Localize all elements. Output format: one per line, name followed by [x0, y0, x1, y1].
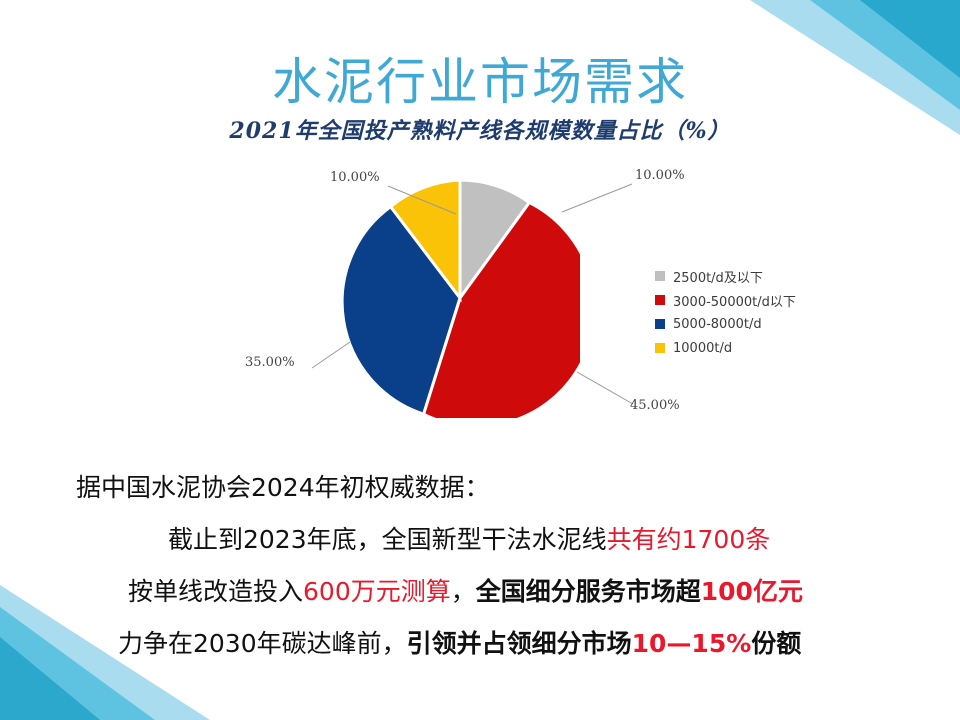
legend-item: 5000-8000t/d	[655, 313, 855, 335]
legend-swatch-gray-icon	[655, 271, 665, 281]
body-line-1-text: 据中国水泥协会2024年初权威数据：	[76, 473, 490, 502]
pie-label-bottom-left: 35.00%	[245, 355, 295, 370]
body-line-4-text: 力争在2030年碳达峰前，	[118, 629, 407, 658]
page-title: 水泥行业市场需求	[0, 52, 960, 112]
title-block: 水泥行业市场需求 2021年全国投产熟料产线各规模数量占比（%）	[0, 52, 960, 146]
body-line-2-highlight: 共有约1700条	[607, 525, 771, 554]
pie-chart: 10.00% 10.00% 35.00% 45.00% 2500t/d及以下 3…	[240, 150, 860, 440]
leader-line-top-left	[388, 184, 458, 216]
body-line-4: 力争在2030年碳达峰前，引领并占领细分市场10—15%份额	[0, 618, 960, 670]
pie-label-top-right: 10.00%	[635, 168, 685, 183]
body-line-2: 截止到2023年底，全国新型干法水泥线共有约1700条	[0, 514, 960, 566]
body-line-3-highlight: 600万元测算	[303, 577, 451, 606]
body-line-3-bold-highlight: 100亿元	[701, 577, 803, 606]
body-line-1: 据中国水泥协会2024年初权威数据：	[0, 462, 960, 514]
body-line-4-bold-highlight: 10—15%	[632, 629, 752, 658]
legend-item: 3000-50000t/d以下	[655, 289, 855, 311]
body-text-block: 据中国水泥协会2024年初权威数据： 截止到2023年底，全国新型干法水泥线共有…	[0, 462, 960, 670]
leader-line-bottom-right	[577, 372, 635, 406]
chart-legend: 2500t/d及以下 3000-50000t/d以下 5000-8000t/d …	[655, 265, 855, 361]
pie-graphic	[340, 178, 580, 418]
pie-label-top-left: 10.00%	[330, 170, 380, 185]
legend-swatch-blue-icon	[655, 319, 665, 329]
legend-item: 2500t/d及以下	[655, 265, 855, 287]
slide-canvas: 水泥行业市场需求 2021年全国投产熟料产线各规模数量占比（%）	[0, 0, 960, 720]
legend-swatch-yellow-icon	[655, 343, 665, 353]
pie-label-bottom-right: 45.00%	[630, 398, 680, 413]
body-line-4-bold: 引领并占领细分市场	[407, 629, 632, 658]
legend-label: 5000-8000t/d	[673, 317, 762, 332]
body-line-3-text: 按单线改造投入	[128, 577, 303, 606]
body-line-3: 按单线改造投入600万元测算，全国细分服务市场超100亿元	[0, 566, 960, 618]
chart-subtitle: 2021年全国投产熟料产线各规模数量占比（%）	[0, 116, 960, 146]
leader-line-top-right	[560, 182, 634, 214]
legend-label: 3000-50000t/d以下	[673, 291, 796, 310]
leader-line-bottom-left	[310, 342, 352, 370]
body-line-3-bold: 全国细分服务市场超	[476, 577, 701, 606]
legend-label: 2500t/d及以下	[673, 267, 763, 286]
body-line-2-text: 截止到2023年底，全国新型干法水泥线	[168, 525, 607, 554]
body-line-4-bold-tail: 份额	[751, 629, 801, 658]
legend-item: 10000t/d	[655, 337, 855, 359]
legend-label: 10000t/d	[673, 341, 732, 356]
legend-swatch-red-icon	[655, 295, 665, 305]
body-line-3-comma: ，	[451, 577, 476, 606]
